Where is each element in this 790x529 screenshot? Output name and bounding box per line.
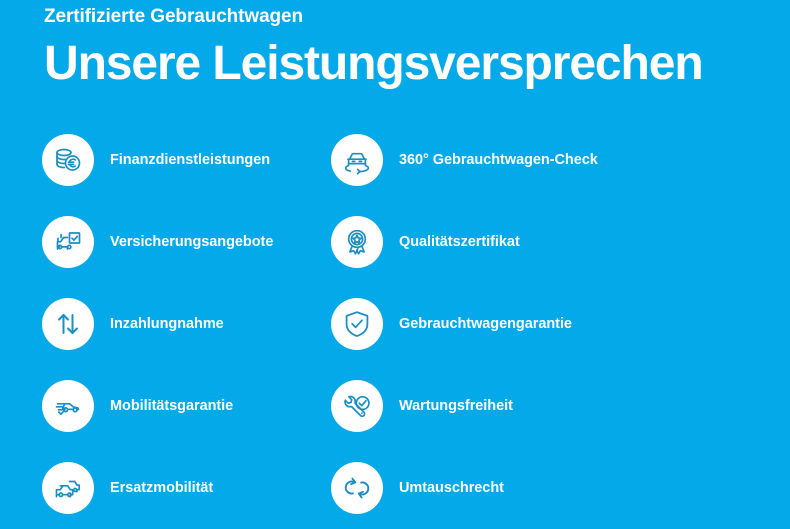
feature-item-gebrauchtwagengarantie[interactable]: Gebrauchtwagengarantie <box>331 283 671 365</box>
exchange-arrows-icon <box>331 462 383 514</box>
wrench-check-icon <box>331 380 383 432</box>
shield-check-icon <box>331 298 383 350</box>
feature-label: Qualitätszertifikat <box>399 233 520 251</box>
feature-label: 360° Gebrauchtwagen-Check <box>399 151 598 169</box>
up-down-arrows-icon <box>42 298 94 350</box>
banner-header: Zertifizierte Gebrauchtwagen Unsere Leis… <box>44 4 764 94</box>
feature-label: Mobilitätsgarantie <box>110 397 233 415</box>
feature-label: Umtauschrecht <box>399 479 504 497</box>
feature-item-wartungsfreiheit[interactable]: Wartungsfreiheit <box>331 365 671 447</box>
feature-label: Ersatzmobilität <box>110 479 213 497</box>
speeding-car-check-icon <box>42 380 94 432</box>
coins-euro-icon <box>42 134 94 186</box>
feature-label: Gebrauchtwagengarantie <box>399 315 572 333</box>
feature-item-360-check[interactable]: 360° Gebrauchtwagen-Check <box>331 119 671 201</box>
feature-label: Versicherungsangebote <box>110 233 273 251</box>
feature-label: Wartungsfreiheit <box>399 397 513 415</box>
car-checklist-icon <box>42 216 94 268</box>
page-title: Unsere Leistungsversprechen <box>44 34 764 94</box>
award-rosette-icon <box>331 216 383 268</box>
features-grid: Finanzdienstleistungen <box>0 119 790 527</box>
two-cars-icon <box>42 462 94 514</box>
eyebrow-text: Zertifizierte Gebrauchtwagen <box>44 4 764 30</box>
feature-item-qualitaetszertifikat[interactable]: Qualitätszertifikat <box>331 201 671 283</box>
car-360-rotation-icon <box>331 134 383 186</box>
features-column-right: 360° Gebrauchtwagen-Check Qualitätszerti… <box>331 119 671 529</box>
feature-label: Inzahlungnahme <box>110 315 224 333</box>
feature-label: Finanzdienstleistungen <box>110 151 270 169</box>
promo-banner: Zertifizierte Gebrauchtwagen Unsere Leis… <box>0 0 790 527</box>
feature-item-umtauschrecht[interactable]: Umtauschrecht <box>331 447 671 529</box>
